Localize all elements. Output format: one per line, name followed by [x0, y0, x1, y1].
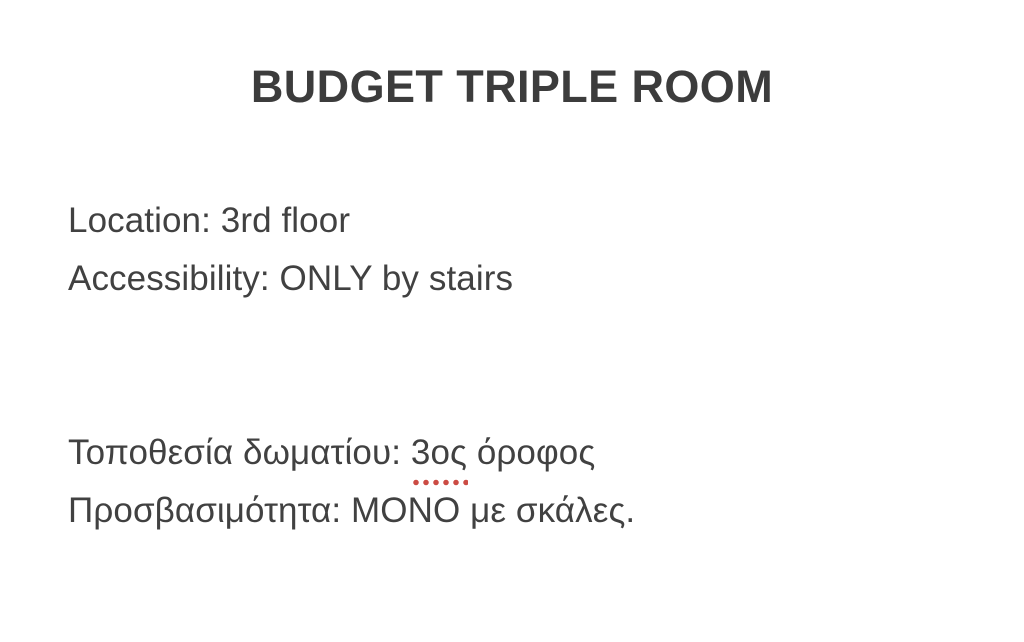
english-text-block: Location: 3rd floor Accessibility: ONLY …: [68, 192, 968, 308]
location-line-english: Location: 3rd floor: [68, 192, 968, 250]
greek-text-block: Τοποθεσία δωματίου: 3ος όροφος Προσβασιμ…: [68, 424, 968, 540]
spellcheck-misspelled-word[interactable]: 3ος: [411, 424, 467, 482]
accessibility-line-english: Accessibility: ONLY by stairs: [68, 250, 968, 308]
document-page: BUDGET TRIPLE ROOM Location: 3rd floor A…: [0, 0, 1024, 642]
location-value-greek: όροφος: [467, 433, 595, 472]
location-line-greek: Τοποθεσία δωματίου: 3ος όροφος: [68, 424, 968, 482]
location-label-greek: Τοποθεσία δωματίου:: [68, 433, 411, 472]
accessibility-line-greek: Προσβασιμότητα: ΜΟΝΟ με σκάλες.: [68, 482, 968, 540]
page-title: BUDGET TRIPLE ROOM: [0, 60, 1024, 113]
misspelled-word-text: 3ος: [411, 433, 467, 472]
